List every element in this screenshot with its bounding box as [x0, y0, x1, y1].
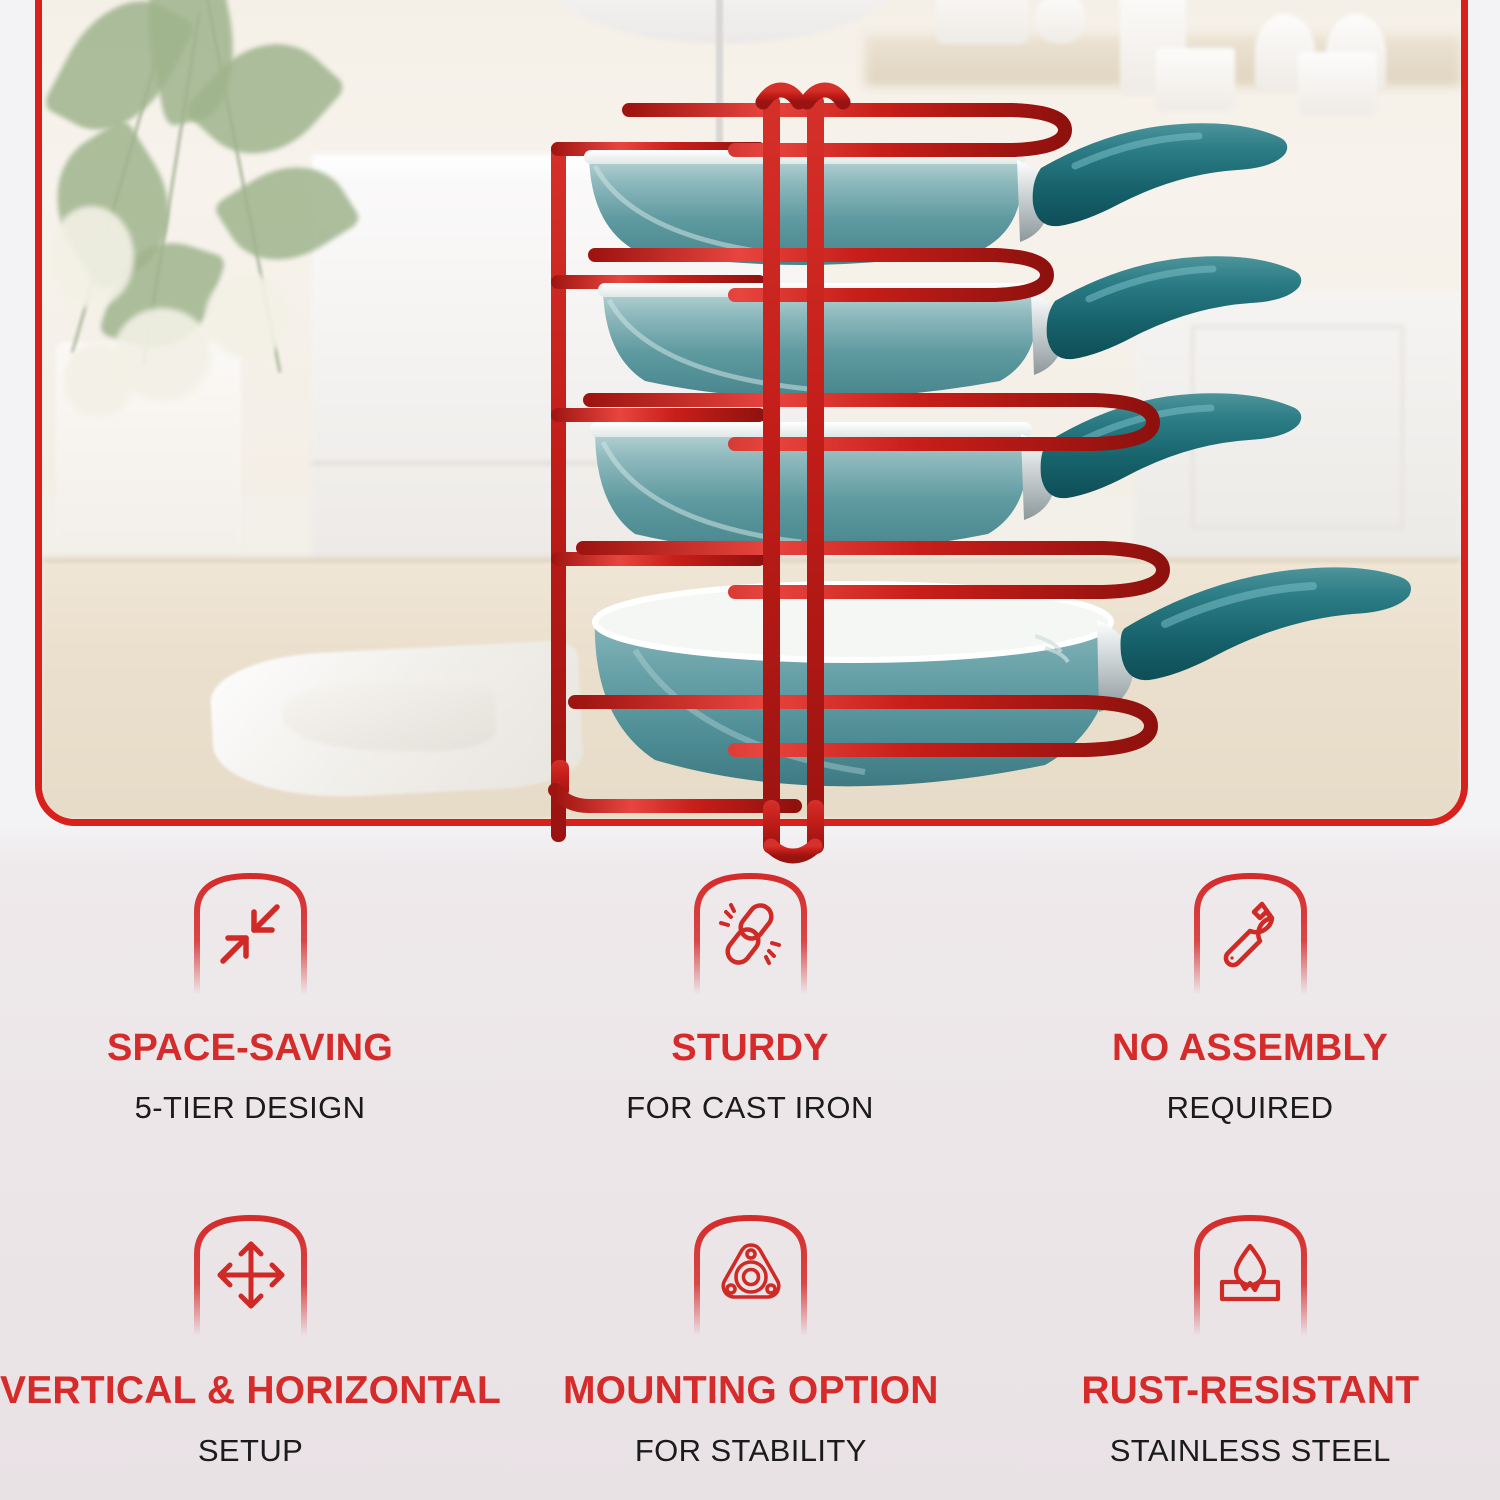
white-blossom-3 — [205, 274, 290, 359]
cabinet-drawer-line — [312, 461, 752, 465]
feature-title: SPACE-SAVING — [107, 1029, 393, 1069]
feature-row-1: SPACE-SAVING 5-TIER DESIGN — [0, 870, 1500, 1126]
feature-row-2: VERTICAL & HORIZONTAL SETUP — [0, 1212, 1500, 1469]
feature-title: MOUNTING OPTION — [563, 1371, 939, 1412]
cabinet-door-panel — [1191, 325, 1404, 529]
feature-subtitle: FOR CAST IRON — [626, 1090, 873, 1126]
feature-sturdy[interactable]: STURDY FOR CAST IRON — [500, 870, 1000, 1126]
feature-no-assembly[interactable]: NO ASSEMBLY REQUIRED — [1000, 870, 1500, 1126]
feature-subtitle: 5-TIER DESIGN — [135, 1090, 366, 1126]
feature-title: VERTICAL & HORIZONTAL — [0, 1371, 501, 1412]
water-droplet-repel-icon — [1188, 1212, 1313, 1337]
ceramic-pitcher-1 — [1156, 48, 1235, 112]
feature-title: RUST-RESISTANT — [1081, 1371, 1419, 1412]
feature-mounting-option[interactable]: MOUNTING OPTION FOR STABILITY — [501, 1212, 1000, 1469]
feature-subtitle: REQUIRED — [1167, 1090, 1334, 1126]
product-photo-frame — [35, 0, 1468, 826]
wrench-icon — [1188, 870, 1313, 995]
ceramic-pitcher-2 — [1298, 52, 1377, 116]
feature-subtitle: FOR STABILITY — [635, 1433, 867, 1469]
compress-arrows-icon — [188, 870, 313, 995]
four-way-arrows-icon — [188, 1212, 313, 1337]
feature-grid: SPACE-SAVING 5-TIER DESIGN — [0, 870, 1500, 1469]
feature-title: NO ASSEMBLY — [1112, 1029, 1388, 1069]
infographic-page: SPACE-SAVING 5-TIER DESIGN — [0, 0, 1500, 1500]
mounting-flange-icon — [688, 1212, 813, 1337]
feature-subtitle: STAINLESS STEEL — [1110, 1433, 1391, 1469]
dish-towel-fold — [283, 683, 496, 751]
feature-rust-resistant[interactable]: RUST-RESISTANT STAINLESS STEEL — [1001, 1212, 1500, 1469]
product-photo-image — [42, 0, 1461, 819]
feature-space-saving[interactable]: SPACE-SAVING 5-TIER DESIGN — [0, 870, 500, 1126]
white-blossom-1 — [49, 206, 134, 308]
chain-link-icon — [688, 870, 813, 995]
feature-subtitle: SETUP — [198, 1433, 303, 1469]
white-blossom-4 — [63, 342, 134, 419]
ceramic-vase-back — [936, 0, 1028, 44]
cabinet-knob — [1184, 419, 1197, 432]
feature-vertical-horizontal[interactable]: VERTICAL & HORIZONTAL SETUP — [0, 1212, 501, 1469]
farmhouse-sink — [312, 171, 823, 580]
feature-title: STURDY — [671, 1029, 828, 1069]
